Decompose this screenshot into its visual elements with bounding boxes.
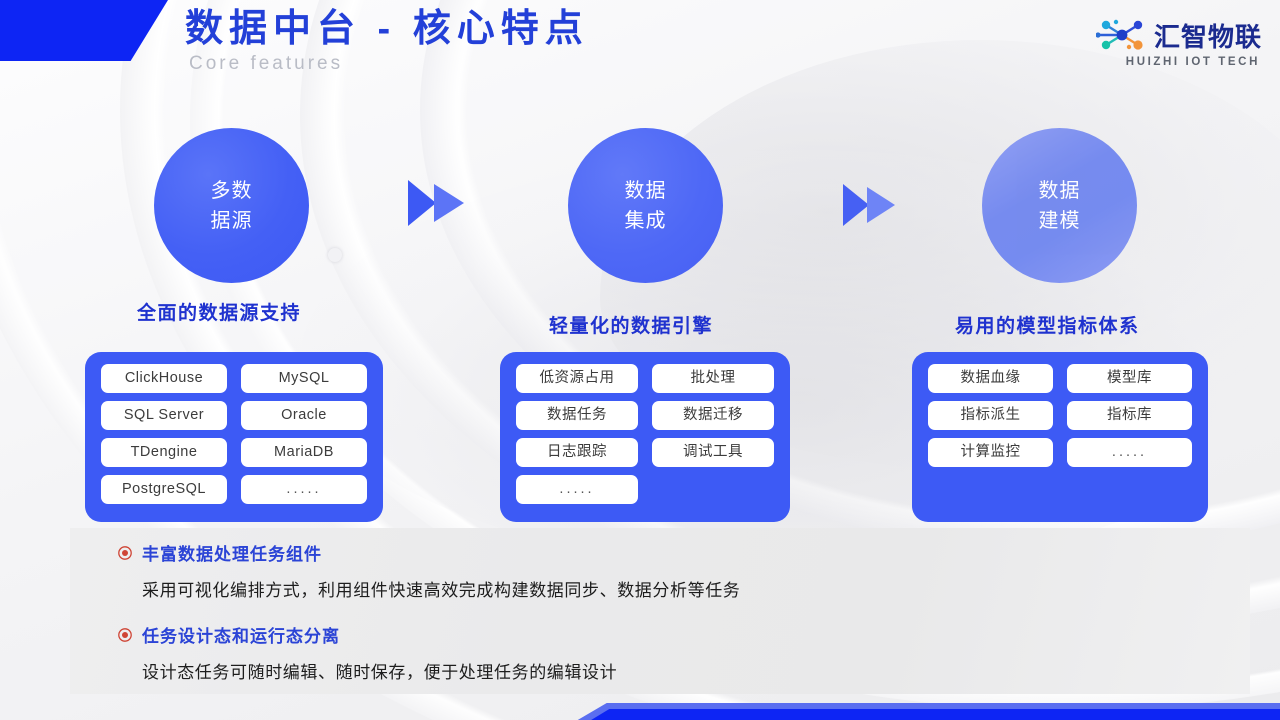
- feature-item-2: 任务设计态和运行态分离 设计态任务可随时编辑、随时保存，便于处理任务的编辑设计: [118, 622, 617, 683]
- brand-logo: 汇智物联 HUIZHI IOT TECH: [1096, 16, 1262, 68]
- feature-2-header: 任务设计态和运行态分离: [118, 622, 617, 647]
- tag-item[interactable]: 指标库: [1067, 401, 1192, 430]
- feature-panel: 丰富数据处理任务组件 采用可视化编排方式，利用组件快速高效完成构建数据同步、数据…: [70, 528, 1250, 694]
- page-subtitle: Core features: [185, 53, 589, 75]
- double-chevron-right-icon-1: [408, 178, 470, 228]
- page-title-block: 数据中台 - 核心特点 Core features: [185, 6, 589, 75]
- tag-item-more[interactable]: .....: [241, 475, 367, 504]
- tag-item-more[interactable]: .....: [516, 475, 638, 504]
- tag-item[interactable]: 指标派生: [928, 401, 1053, 430]
- caption-model-system: 易用的模型指标体系: [955, 311, 1140, 338]
- molecule-network-icon: [1096, 16, 1148, 54]
- tag-item[interactable]: 计算监控: [928, 438, 1053, 467]
- radio-bullet-icon: [118, 546, 132, 560]
- tag-item[interactable]: Oracle: [241, 401, 367, 430]
- flow-circle-2-line1: 数据: [625, 176, 667, 206]
- logo-row: 汇智物联: [1096, 16, 1262, 54]
- logo-name-en: HUIZHI IOT TECH: [1126, 56, 1262, 68]
- feature-item-1: 丰富数据处理任务组件 采用可视化编排方式，利用组件快速高效完成构建数据同步、数据…: [118, 540, 740, 601]
- slide-canvas: 数据中台 - 核心特点 Core features: [0, 0, 1280, 720]
- feature-1-header: 丰富数据处理任务组件: [118, 540, 740, 565]
- tag-item[interactable]: 数据迁移: [652, 401, 774, 430]
- tag-item[interactable]: MariaDB: [241, 438, 367, 467]
- tag-panel-model-system: 数据血缘 模型库 指标派生 指标库 计算监控 .....: [912, 352, 1208, 522]
- caption-data-sources: 全面的数据源支持: [137, 298, 301, 325]
- flow-circle-2-line2: 集成: [625, 206, 667, 236]
- tag-item[interactable]: MySQL: [241, 364, 367, 393]
- tag-item[interactable]: 数据任务: [516, 401, 638, 430]
- tag-item[interactable]: 模型库: [1067, 364, 1192, 393]
- tag-item[interactable]: 批处理: [652, 364, 774, 393]
- flow-circle-1-line1: 多数: [211, 176, 253, 206]
- feature-1-title: 丰富数据处理任务组件: [142, 540, 322, 565]
- tag-item[interactable]: ClickHouse: [101, 364, 227, 393]
- tag-item[interactable]: PostgreSQL: [101, 475, 227, 504]
- radio-bullet-icon: [118, 628, 132, 642]
- caption-data-engine: 轻量化的数据引擎: [549, 311, 713, 338]
- tag-item[interactable]: SQL Server: [101, 401, 227, 430]
- flow-circle-2: 数据 集成: [568, 128, 723, 283]
- tag-panel-data-sources: ClickHouse MySQL SQL Server Oracle TDeng…: [85, 352, 383, 522]
- tag-panel-data-engine: 低资源占用 批处理 数据任务 数据迁移 日志跟踪 调试工具 .....: [500, 352, 790, 522]
- decorative-dot: [328, 248, 342, 262]
- feature-2-description: 设计态任务可随时编辑、随时保存，便于处理任务的编辑设计: [142, 658, 617, 683]
- tag-item[interactable]: 数据血缘: [928, 364, 1053, 393]
- tag-item[interactable]: 日志跟踪: [516, 438, 638, 467]
- tag-item-more[interactable]: .....: [1067, 438, 1192, 467]
- logo-name-cn: 汇智物联: [1154, 17, 1262, 54]
- tag-item[interactable]: 低资源占用: [516, 364, 638, 393]
- flow-circle-3-line2: 建模: [1039, 206, 1081, 236]
- flow-circle-3-line1: 数据: [1039, 176, 1081, 206]
- flow-circle-3: 数据 建模: [982, 128, 1137, 283]
- flow-circle-1-line2: 据源: [211, 206, 253, 236]
- tag-item[interactable]: TDengine: [101, 438, 227, 467]
- page-title: 数据中台 - 核心特点: [185, 6, 589, 52]
- tag-item[interactable]: 调试工具: [652, 438, 774, 467]
- feature-1-description: 采用可视化编排方式，利用组件快速高效完成构建数据同步、数据分析等任务: [142, 576, 740, 601]
- flow-circle-1: 多数 据源: [154, 128, 309, 283]
- feature-2-title: 任务设计态和运行态分离: [142, 622, 340, 647]
- double-chevron-right-icon-2: [843, 182, 901, 228]
